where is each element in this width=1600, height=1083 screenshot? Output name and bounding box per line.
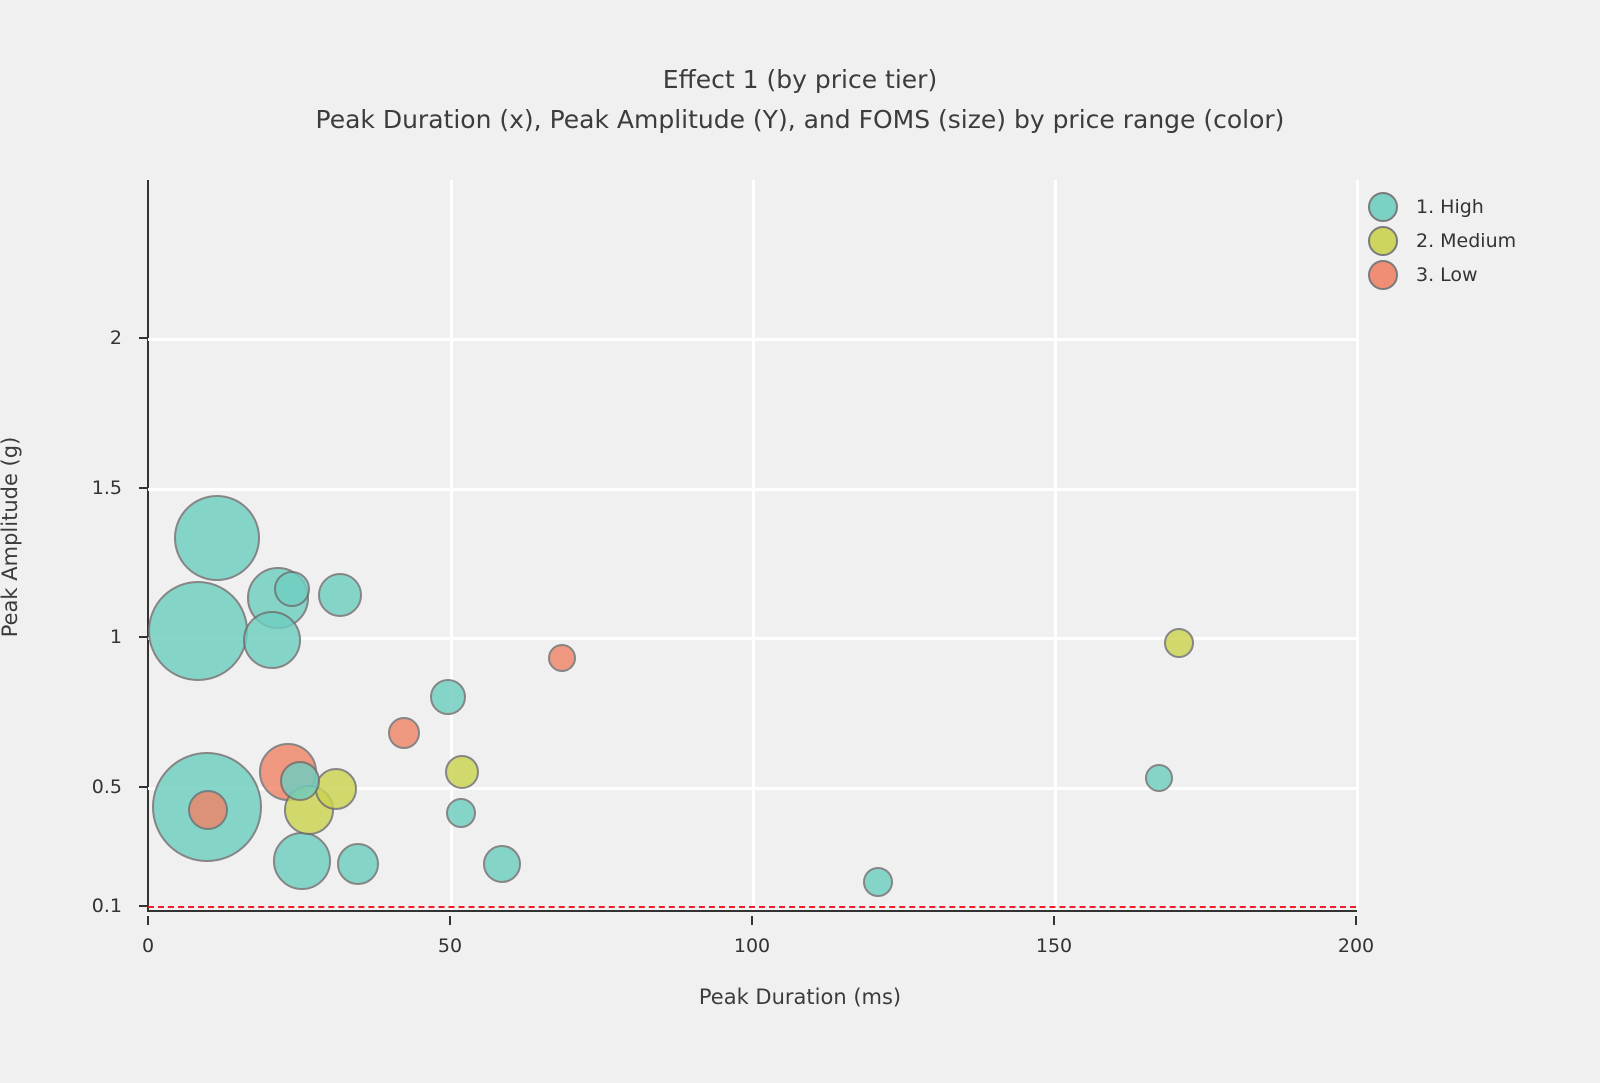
x-axis-tick-label: 150 bbox=[1004, 935, 1104, 957]
legend-item-2[interactable]: 2. Medium bbox=[1368, 224, 1588, 258]
bubble-point[interactable] bbox=[273, 832, 331, 890]
bubble-point[interactable] bbox=[446, 798, 476, 828]
legend-swatch-circle-icon bbox=[1368, 226, 1398, 256]
y-axis-tick-label: 1 bbox=[22, 626, 122, 648]
bubble-point[interactable] bbox=[863, 867, 893, 897]
bubble-chart-figure: Effect 1 (by price tier) Peak Duration (… bbox=[0, 0, 1600, 1083]
bubble-point[interactable] bbox=[1164, 628, 1194, 658]
bubble-point[interactable] bbox=[548, 644, 576, 672]
bubble-point[interactable] bbox=[243, 611, 301, 669]
gridline-vertical bbox=[752, 180, 755, 910]
x-axis-tick-mark bbox=[751, 916, 753, 925]
bubble-point[interactable] bbox=[388, 717, 420, 749]
plot-area bbox=[148, 180, 1356, 910]
gridline-horizontal bbox=[148, 338, 1356, 341]
y-axis-tick-mark bbox=[139, 636, 148, 638]
y-axis-tick-label: 1.5 bbox=[22, 477, 122, 499]
x-axis-line bbox=[147, 910, 1357, 912]
x-axis-tick-mark bbox=[1053, 916, 1055, 925]
bubble-point[interactable] bbox=[280, 761, 320, 801]
bubble-point[interactable] bbox=[1145, 764, 1173, 792]
chart-title-line1: Effect 1 (by price tier) bbox=[0, 60, 1600, 100]
gridline-vertical bbox=[1356, 180, 1359, 910]
legend-swatch-circle-icon bbox=[1368, 260, 1398, 290]
legend-swatch-circle-icon bbox=[1368, 192, 1398, 222]
bubble-point[interactable] bbox=[483, 845, 521, 883]
gridline-vertical bbox=[1054, 180, 1057, 910]
x-axis-tick-mark bbox=[1355, 916, 1357, 925]
x-axis-tick-label: 100 bbox=[702, 935, 802, 957]
x-axis-tick-label: 200 bbox=[1306, 935, 1406, 957]
bubble-point[interactable] bbox=[318, 573, 362, 617]
y-axis-tick-mark bbox=[139, 786, 148, 788]
y-axis-tick-mark bbox=[139, 337, 148, 339]
threshold-line bbox=[148, 906, 1356, 908]
legend-item-label: 3. Low bbox=[1416, 264, 1478, 286]
bubble-point[interactable] bbox=[148, 581, 248, 681]
chart-title: Effect 1 (by price tier) Peak Duration (… bbox=[0, 60, 1600, 140]
legend: 1. High2. Medium3. Low bbox=[1368, 190, 1588, 292]
bubble-point[interactable] bbox=[315, 768, 357, 810]
x-axis-tick-mark bbox=[449, 916, 451, 925]
legend-item-label: 2. Medium bbox=[1416, 230, 1516, 252]
y-axis-title: Peak Amplitude (g) bbox=[0, 287, 22, 787]
bubble-point[interactable] bbox=[274, 571, 310, 607]
bubble-point[interactable] bbox=[445, 755, 479, 789]
bubble-point[interactable] bbox=[430, 679, 466, 715]
bubble-point[interactable] bbox=[337, 843, 379, 885]
y-axis-tick-label: 0.5 bbox=[22, 776, 122, 798]
x-axis-tick-mark bbox=[147, 916, 149, 925]
x-axis-title: Peak Duration (ms) bbox=[0, 985, 1600, 1009]
bubble-point[interactable] bbox=[188, 790, 228, 830]
gridline-horizontal bbox=[148, 488, 1356, 491]
y-axis-tick-mark bbox=[139, 487, 148, 489]
x-axis-tick-label: 0 bbox=[98, 935, 198, 957]
y-axis-tick-mark bbox=[139, 905, 148, 907]
legend-item-1[interactable]: 1. High bbox=[1368, 190, 1588, 224]
chart-title-subtitle: Peak Duration (x), Peak Amplitude (Y), a… bbox=[0, 100, 1600, 140]
legend-item-3[interactable]: 3. Low bbox=[1368, 258, 1588, 292]
y-axis-tick-label: 0.1 bbox=[22, 895, 122, 917]
x-axis-tick-label: 50 bbox=[400, 935, 500, 957]
bubble-point[interactable] bbox=[174, 495, 260, 581]
legend-item-label: 1. High bbox=[1416, 196, 1484, 218]
y-axis-tick-label: 2 bbox=[22, 327, 122, 349]
